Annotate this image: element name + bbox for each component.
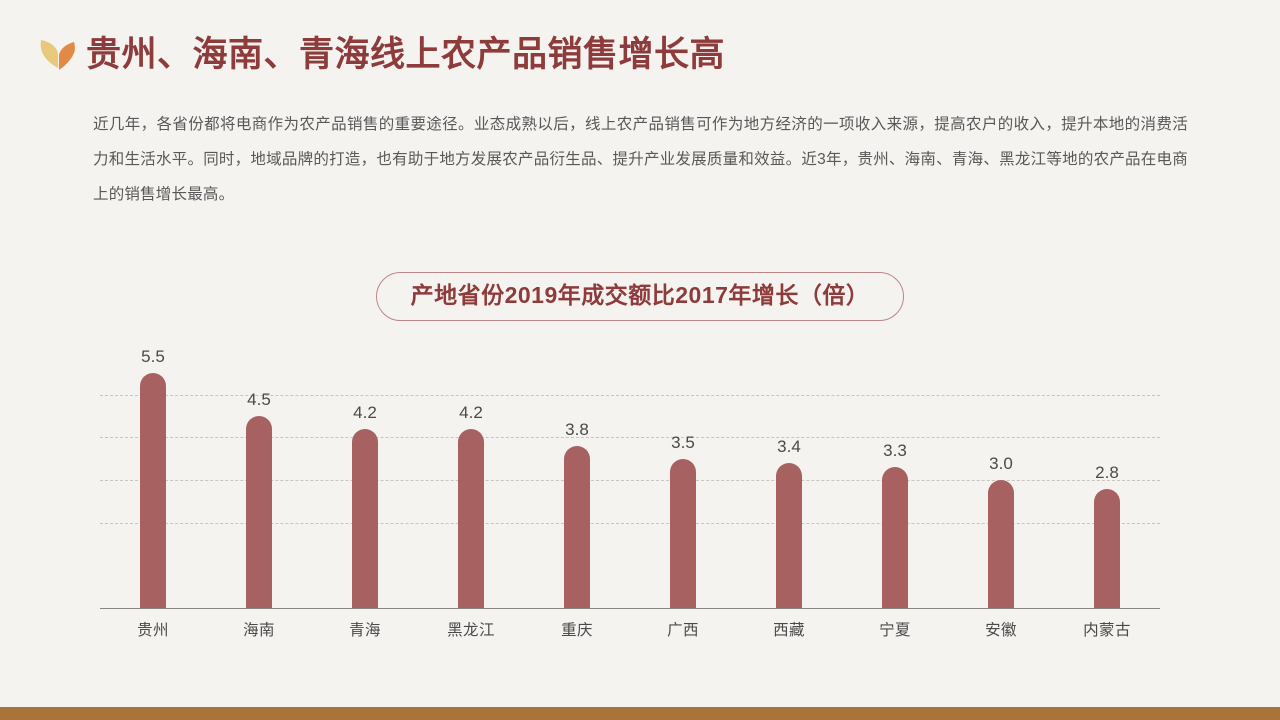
bar[interactable] — [140, 373, 166, 608]
bar[interactable] — [352, 429, 378, 608]
x-label-slot: 内蒙古 — [1054, 618, 1160, 640]
bar-value-label: 4.2 — [459, 404, 483, 421]
bar-slot: 3.4 — [736, 352, 842, 608]
bar-value-label: 3.3 — [883, 442, 907, 459]
bar-slot: 3.3 — [842, 352, 948, 608]
chart-title-pill: 产地省份2019年成交额比2017年增长（倍） — [376, 272, 905, 321]
bar-series: 5.54.54.24.23.83.53.43.33.02.8 — [100, 352, 1160, 608]
x-label-slot: 安徽 — [948, 618, 1054, 640]
x-axis-label: 广西 — [667, 622, 699, 639]
x-label-slot: 黑龙江 — [418, 618, 524, 640]
x-axis-label: 安徽 — [985, 622, 1017, 639]
x-label-slot: 青海 — [312, 618, 418, 640]
bar-value-label: 3.4 — [777, 438, 801, 455]
bar[interactable] — [776, 463, 802, 608]
page-title: 贵州、海南、青海线上农产品销售增长高 — [86, 37, 725, 72]
x-axis-label: 贵州 — [137, 622, 169, 639]
x-axis-label: 重庆 — [561, 622, 593, 639]
chart-title-container: 产地省份2019年成交额比2017年增长（倍） — [0, 272, 1280, 321]
x-axis-label: 内蒙古 — [1083, 622, 1131, 639]
x-axis-label: 黑龙江 — [447, 622, 495, 639]
bar-slot: 4.5 — [206, 352, 312, 608]
bar-value-label: 3.0 — [989, 455, 1013, 472]
x-axis-label: 西藏 — [773, 622, 805, 639]
x-axis-label: 青海 — [349, 622, 381, 639]
bar[interactable] — [458, 429, 484, 608]
bottom-accent-bar — [0, 707, 1280, 720]
bar[interactable] — [988, 480, 1014, 608]
bar-slot: 2.8 — [1054, 352, 1160, 608]
x-label-slot: 贵州 — [100, 618, 206, 640]
bar-value-label: 3.8 — [565, 421, 589, 438]
bar-slot: 3.0 — [948, 352, 1054, 608]
bar-chart: 5.54.54.24.23.83.53.43.33.02.8 贵州海南青海黑龙江… — [100, 352, 1160, 642]
bar[interactable] — [246, 416, 272, 608]
x-axis-label: 宁夏 — [879, 622, 911, 639]
intro-paragraph: 近几年，各省份都将电商作为农产品销售的重要途径。业态成熟以后，线上农产品销售可作… — [93, 107, 1188, 212]
bar-slot: 5.5 — [100, 352, 206, 608]
bar[interactable] — [1094, 489, 1120, 608]
bar-value-label: 3.5 — [671, 434, 695, 451]
x-axis-labels: 贵州海南青海黑龙江重庆广西西藏宁夏安徽内蒙古 — [100, 618, 1160, 640]
x-axis-line — [100, 608, 1160, 609]
bar-slot: 4.2 — [312, 352, 418, 608]
bar[interactable] — [564, 446, 590, 608]
bar-value-label: 4.2 — [353, 404, 377, 421]
chart-plot-area: 5.54.54.24.23.83.53.43.33.02.8 — [100, 352, 1160, 608]
sprout-leaf-icon — [38, 34, 82, 74]
slide-header: 贵州、海南、青海线上农产品销售增长高 — [0, 24, 1280, 84]
bar[interactable] — [882, 467, 908, 608]
bar-value-label: 4.5 — [247, 391, 271, 408]
bar-slot: 4.2 — [418, 352, 524, 608]
bar-value-label: 2.8 — [1095, 464, 1119, 481]
x-axis-label: 海南 — [243, 622, 275, 639]
x-label-slot: 西藏 — [736, 618, 842, 640]
x-label-slot: 重庆 — [524, 618, 630, 640]
bar-value-label: 5.5 — [141, 348, 165, 365]
chart-title: 产地省份2019年成交额比2017年增长（倍） — [411, 283, 870, 308]
x-label-slot: 宁夏 — [842, 618, 948, 640]
x-label-slot: 广西 — [630, 618, 736, 640]
x-label-slot: 海南 — [206, 618, 312, 640]
bar-slot: 3.5 — [630, 352, 736, 608]
bar[interactable] — [670, 459, 696, 608]
bar-slot: 3.8 — [524, 352, 630, 608]
